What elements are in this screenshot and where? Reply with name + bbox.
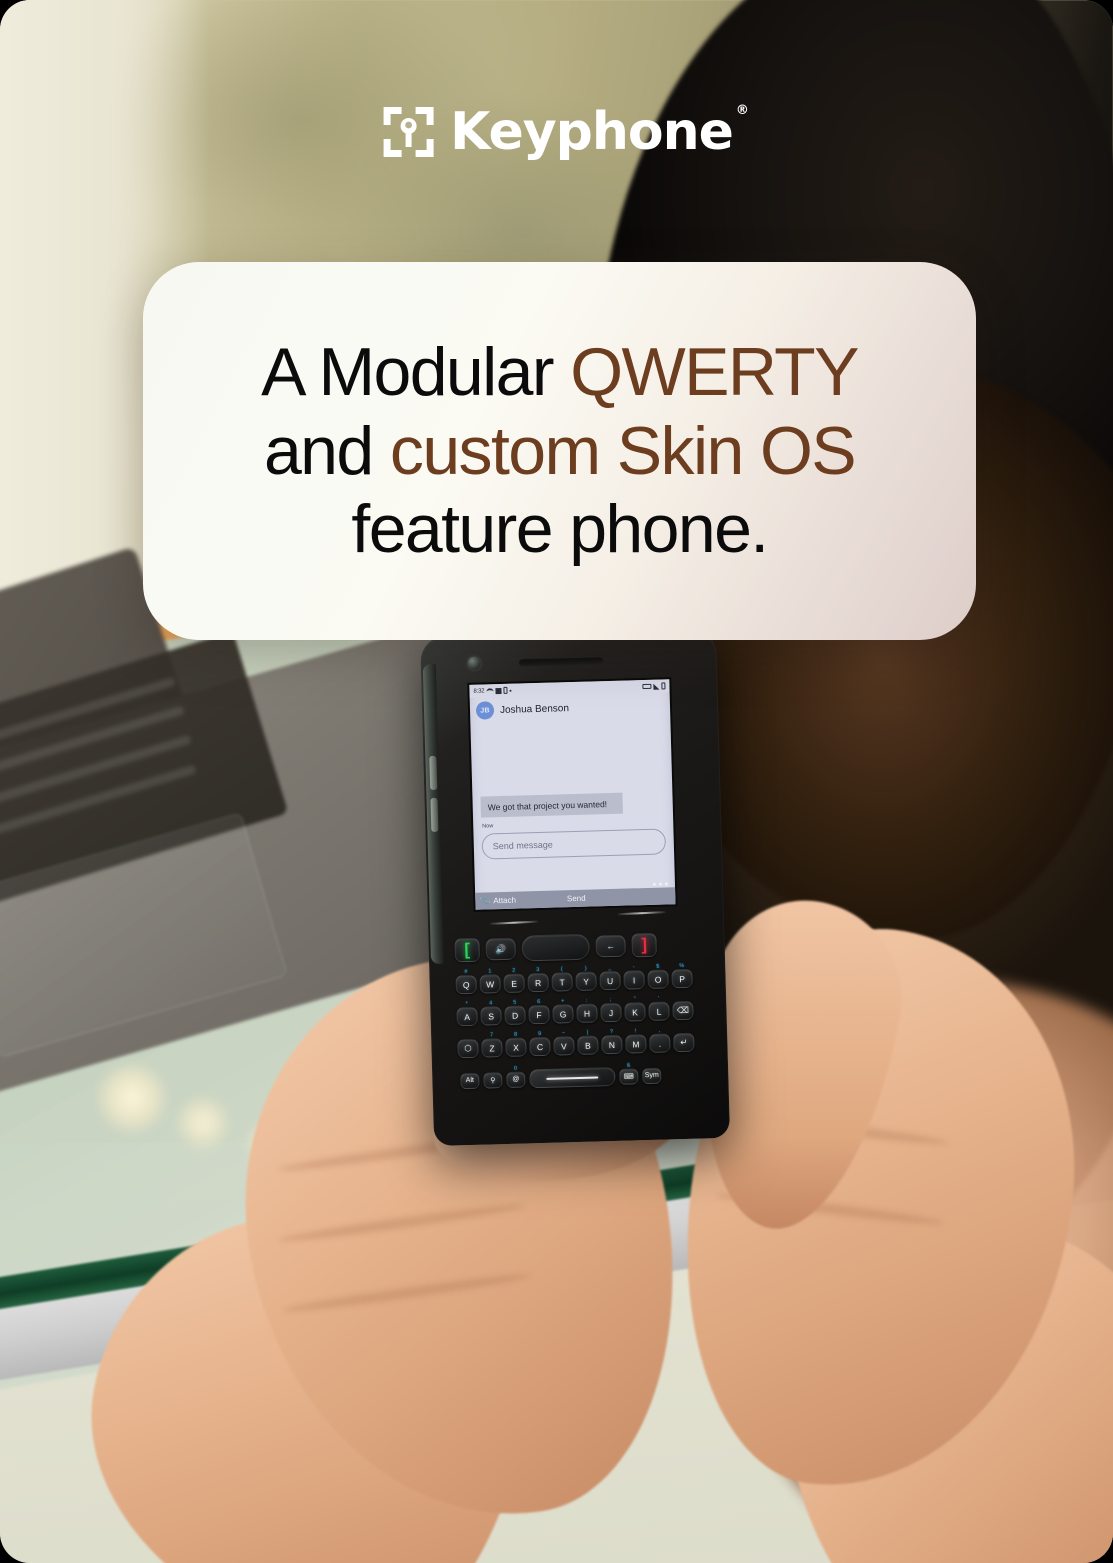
alarm-icon	[486, 688, 493, 693]
qwerty-keyboard[interactable]: [ 🔊 ← ] #Q 1W 2E 3R (T )Y _U -I $O %P *A	[444, 928, 713, 1131]
key-R[interactable]: 3R	[527, 973, 549, 993]
signal-icon	[653, 683, 659, 689]
volume-down-button[interactable]	[430, 798, 438, 832]
network-icon	[642, 684, 651, 689]
volume-mic-key[interactable]: 🔊	[485, 938, 516, 961]
key-N[interactable]: ?N	[601, 1035, 623, 1055]
key-Y[interactable]: )Y	[575, 971, 597, 991]
key-Q[interactable]: #Q	[455, 975, 477, 995]
keyboard-row-2: *A 4S 5D 6F +G :H ;J "K 'L ⌫	[456, 1001, 693, 1027]
backspace-key[interactable]: ⌫	[672, 1001, 694, 1021]
key-A[interactable]: *A	[456, 1007, 478, 1027]
key-G[interactable]: +G	[552, 1004, 574, 1024]
message-thread: We got that project you wanted! Now	[470, 720, 673, 834]
bokeh-light	[96, 1062, 168, 1134]
key-S[interactable]: 4S	[480, 1006, 502, 1026]
battery-icon	[661, 682, 665, 689]
key-H[interactable]: :H	[576, 1003, 598, 1023]
headline-line-2: and custom Skin OS	[264, 412, 855, 491]
keyhole-square-icon	[380, 104, 436, 160]
keyboard-key[interactable]: &⌨	[619, 1068, 638, 1085]
keyboard-row-4: Alt ⚲ 0@ &⌨ Sym	[460, 1066, 661, 1091]
keyboard-row-1: #Q 1W 2E 3R (T )Y _U -I $O %P	[455, 969, 692, 995]
keyboard-function-row: [ 🔊 ← ]	[454, 932, 657, 964]
message-bubble: We got that project you wanted!	[480, 792, 623, 817]
key-T[interactable]: (T	[551, 972, 573, 992]
key-I[interactable]: -I	[623, 970, 645, 990]
message-input[interactable]: Send message	[481, 828, 666, 859]
attach-button[interactable]: 📎 Attach	[480, 896, 516, 906]
contact-name: Joshua Benson	[500, 703, 569, 716]
shift-key[interactable]: ⬡	[457, 1039, 479, 1059]
more-options-icon[interactable]	[653, 882, 668, 885]
battery-icon	[503, 687, 507, 694]
search-key[interactable]: ⚲	[483, 1072, 502, 1089]
call-key[interactable]: [	[454, 938, 480, 963]
key-K[interactable]: "K	[624, 1002, 646, 1022]
key-period[interactable]: ,.	[649, 1033, 671, 1053]
phone-screen[interactable]: 8:32 JB Joshua Benson We got that projec…	[469, 679, 675, 909]
key-J[interactable]: ;J	[600, 1003, 622, 1023]
key-M[interactable]: !M	[625, 1034, 647, 1054]
keyphone-device: 8:32 JB Joshua Benson We got that projec…	[420, 628, 730, 1146]
key-O[interactable]: $O	[647, 969, 669, 989]
attach-label: Attach	[493, 896, 516, 906]
status-time: 8:32	[473, 688, 484, 694]
keyboard-row-3: ⬡ 7Z 8X 9C ~V |B ?N !M ,. ↵	[457, 1033, 694, 1059]
message-input-placeholder: Send message	[493, 840, 553, 852]
key-P[interactable]: %P	[671, 969, 693, 989]
brand-logo: Keyphone ®	[380, 104, 733, 160]
alt-key[interactable]: Alt	[460, 1072, 479, 1089]
key-U[interactable]: _U	[599, 971, 621, 991]
dot-icon	[509, 689, 511, 691]
key-L[interactable]: 'L	[648, 1001, 670, 1021]
send-button[interactable]: Send	[567, 894, 586, 904]
back-key[interactable]: ←	[595, 935, 626, 958]
key-C[interactable]: 9C	[529, 1037, 551, 1057]
key-F[interactable]: 6F	[528, 1005, 550, 1025]
poster-root: 8:32 JB Joshua Benson We got that projec…	[0, 0, 1113, 1563]
key-W[interactable]: 1W	[479, 974, 501, 994]
message-timestamp: Now	[482, 823, 493, 829]
headline-card: A Modular QWERTY and custom Skin OS feat…	[143, 262, 976, 640]
symbol-key[interactable]: Sym	[642, 1067, 661, 1084]
brand-name: Keyphone	[450, 102, 733, 162]
key-E[interactable]: 2E	[503, 973, 525, 993]
message-icon	[495, 687, 501, 693]
key-X[interactable]: 8X	[505, 1037, 527, 1057]
trademark-symbol: ®	[736, 104, 748, 117]
key-B[interactable]: |B	[577, 1035, 599, 1055]
headline-text-plain: and	[264, 413, 390, 489]
brand-wordmark: Keyphone ®	[450, 106, 733, 158]
enter-key[interactable]: ↵	[673, 1033, 695, 1053]
key-Z[interactable]: 7Z	[481, 1038, 503, 1058]
volume-up-button[interactable]	[429, 756, 437, 790]
end-call-key[interactable]: ]	[631, 933, 657, 958]
headline-text-accent: custom Skin OS	[390, 413, 855, 489]
at-key[interactable]: 0@	[506, 1071, 525, 1088]
paperclip-icon: 📎	[479, 895, 492, 907]
headline-line-3: feature phone.	[351, 490, 767, 569]
bokeh-light	[176, 1096, 230, 1150]
headline-text-accent: QWERTY	[570, 334, 858, 410]
headline-line-1: A Modular QWERTY	[261, 333, 858, 412]
key-D[interactable]: 5D	[504, 1005, 526, 1025]
dpad-center-key[interactable]	[521, 934, 590, 962]
space-key[interactable]	[529, 1067, 615, 1088]
headline-text-plain: A Modular	[261, 334, 570, 410]
headline-text-plain: feature phone.	[351, 491, 767, 567]
avatar: JB	[476, 701, 494, 719]
key-V[interactable]: ~V	[553, 1036, 575, 1056]
